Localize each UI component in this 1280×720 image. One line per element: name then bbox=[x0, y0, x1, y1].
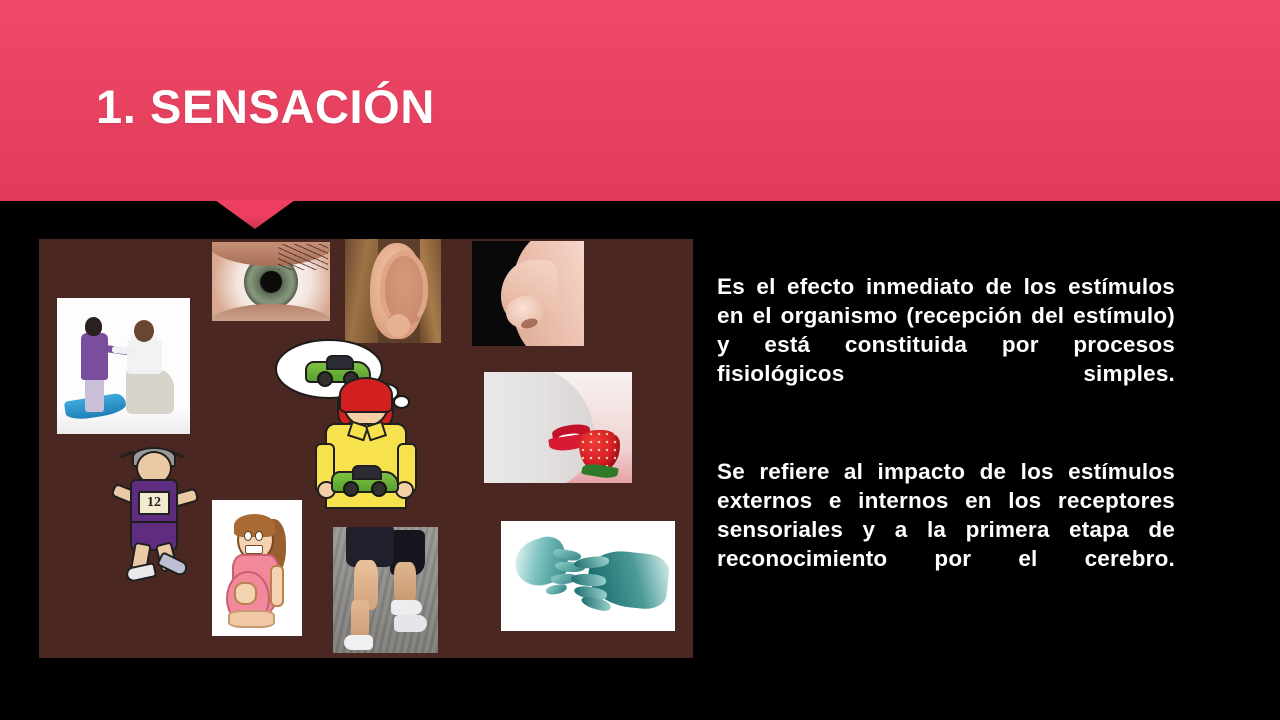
runner-b-thigh bbox=[394, 562, 416, 605]
nose-photo bbox=[472, 241, 584, 346]
car-cabin bbox=[326, 355, 355, 370]
held-toy-car-icon bbox=[331, 471, 399, 493]
balance-board-photo bbox=[57, 298, 190, 434]
slide-canvas: 1. SENSACIÓN bbox=[0, 0, 1280, 720]
therapist-torso bbox=[127, 336, 162, 374]
runner-b-shoe-front bbox=[394, 615, 428, 631]
eye-photo bbox=[212, 242, 330, 321]
eye-lashes bbox=[278, 244, 328, 271]
therapist-legs bbox=[126, 369, 174, 414]
cartoon-runner-illustration: 12 bbox=[102, 447, 206, 573]
left-hand-finger-4 bbox=[546, 583, 568, 596]
car-wheel-front bbox=[317, 371, 333, 387]
runner-bib-number: 12 bbox=[138, 491, 170, 515]
right-hand-finger-2 bbox=[570, 573, 606, 587]
held-car-wheel-front bbox=[343, 481, 359, 497]
pregnant-woman-illustration bbox=[212, 500, 302, 636]
daydream-illustration bbox=[269, 339, 459, 505]
paragraph-sensation-receptors: Se refiere al impacto de los estímulos e… bbox=[717, 457, 1175, 602]
child-torso bbox=[81, 333, 108, 379]
eye-pupil bbox=[261, 271, 282, 292]
woman-hair-top bbox=[339, 377, 393, 413]
paragraph-sensation-definition: Es el efecto inmediato de los estímulos … bbox=[717, 272, 1175, 417]
runner-b-shoe-rear bbox=[391, 600, 423, 615]
ear-photo bbox=[345, 239, 441, 343]
running-legs-photo bbox=[333, 527, 438, 653]
thought-bubble-dot-small bbox=[393, 395, 410, 409]
runner-a-shoe bbox=[344, 635, 373, 650]
runner-a-shin bbox=[351, 600, 369, 640]
held-car-wheel-rear bbox=[371, 481, 387, 497]
header-notch-triangle bbox=[215, 200, 295, 229]
ear-lobe bbox=[387, 314, 410, 337]
therapist-head bbox=[134, 320, 154, 342]
page-title: 1. SENSACIÓN bbox=[96, 82, 435, 131]
pregnant-mouth bbox=[245, 545, 262, 554]
child-head bbox=[85, 317, 102, 336]
pregnant-hand bbox=[234, 582, 258, 605]
pregnant-arm-right bbox=[270, 565, 285, 607]
image-collage-panel: 12 bbox=[39, 239, 693, 658]
hands-photo bbox=[501, 521, 675, 631]
child-legs bbox=[85, 374, 104, 412]
pregnant-skirt bbox=[228, 610, 275, 628]
runner-shoe-right bbox=[156, 551, 190, 578]
therapist-arm bbox=[111, 346, 136, 355]
held-car-cabin bbox=[352, 465, 382, 480]
taste-strawberry-photo bbox=[484, 372, 632, 483]
body-text-column: Es el efecto inmediato de los estímulos … bbox=[717, 272, 1175, 602]
